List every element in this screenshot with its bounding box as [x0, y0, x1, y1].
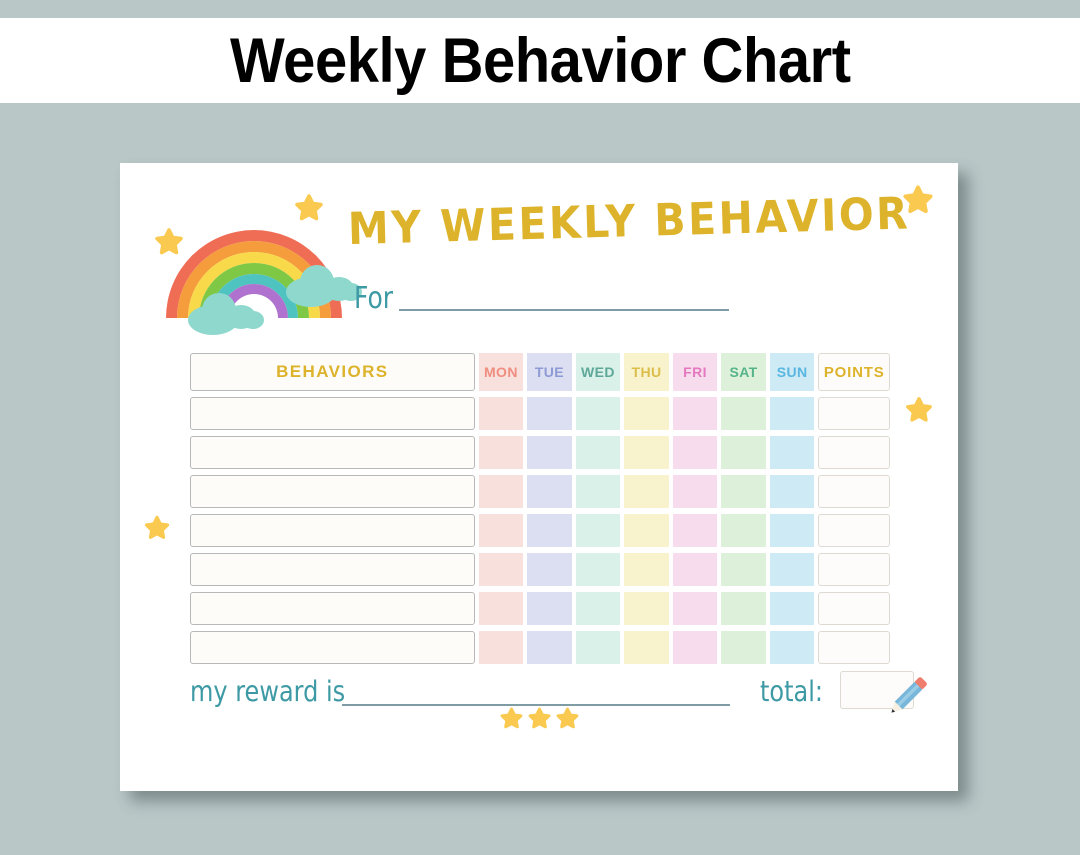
- cell-sun-7[interactable]: [770, 631, 815, 664]
- for-field-row: For: [354, 286, 729, 315]
- cell-fri-2[interactable]: [673, 436, 718, 469]
- header-cell-wed: WED: [576, 353, 621, 391]
- cell-points-7[interactable]: [818, 631, 890, 664]
- cell-mon-2[interactable]: [479, 436, 524, 469]
- table-row: [190, 436, 890, 469]
- cell-sat-7[interactable]: [721, 631, 766, 664]
- cell-sun-1[interactable]: [770, 397, 815, 430]
- cell-tue-3[interactable]: [527, 475, 572, 508]
- cell-fri-7[interactable]: [673, 631, 718, 664]
- cell-points-4[interactable]: [818, 514, 890, 547]
- cell-sun-2[interactable]: [770, 436, 815, 469]
- header-cell-sat: SAT: [721, 353, 766, 391]
- cell-points-6[interactable]: [818, 592, 890, 625]
- cell-mon-7[interactable]: [479, 631, 524, 664]
- total-label: total:: [760, 675, 823, 708]
- header-cell-behaviors: BEHAVIORS: [190, 353, 475, 391]
- points-header-label: POINTS: [824, 364, 885, 381]
- grid-header-row: BEHAVIORS MON TUE WED THU FRI SAT SUN: [190, 353, 890, 391]
- table-row: [190, 631, 890, 664]
- cell-sat-2[interactable]: [721, 436, 766, 469]
- table-row: [190, 514, 890, 547]
- behavior-input-5[interactable]: [190, 553, 475, 586]
- cell-thu-2[interactable]: [624, 436, 669, 469]
- star-icon: [142, 513, 172, 543]
- cell-points-3[interactable]: [818, 475, 890, 508]
- cell-fri-5[interactable]: [673, 553, 718, 586]
- star-icon: [292, 191, 326, 225]
- cell-thu-1[interactable]: [624, 397, 669, 430]
- cell-fri-3[interactable]: [673, 475, 718, 508]
- behavior-chart-card: MY WEEKLY BEHAVIOR For BEHAVIORS MON TUE…: [120, 163, 958, 791]
- cell-tue-5[interactable]: [527, 553, 572, 586]
- cell-sat-1[interactable]: [721, 397, 766, 430]
- cell-mon-1[interactable]: [479, 397, 524, 430]
- header-cell-thu: THU: [624, 353, 669, 391]
- cell-thu-6[interactable]: [624, 592, 669, 625]
- star-icon: [152, 225, 186, 259]
- table-row: [190, 553, 890, 586]
- reward-label: my reward is: [190, 675, 345, 708]
- table-row: [190, 592, 890, 625]
- cell-thu-7[interactable]: [624, 631, 669, 664]
- cell-sat-5[interactable]: [721, 553, 766, 586]
- cell-sat-4[interactable]: [721, 514, 766, 547]
- cell-points-2[interactable]: [818, 436, 890, 469]
- table-row: [190, 397, 890, 430]
- cell-tue-2[interactable]: [527, 436, 572, 469]
- cell-mon-5[interactable]: [479, 553, 524, 586]
- cell-wed-4[interactable]: [576, 514, 621, 547]
- for-label: For: [354, 280, 393, 315]
- header-cell-mon: MON: [479, 353, 524, 391]
- pencil-icon: [878, 668, 934, 724]
- cell-points-1[interactable]: [818, 397, 890, 430]
- cell-fri-6[interactable]: [673, 592, 718, 625]
- behavior-input-6[interactable]: [190, 592, 475, 625]
- cell-mon-6[interactable]: [479, 592, 524, 625]
- behavior-input-7[interactable]: [190, 631, 475, 664]
- cell-sat-3[interactable]: [721, 475, 766, 508]
- cell-wed-7[interactable]: [576, 631, 621, 664]
- header-cell-points: POINTS: [818, 353, 890, 391]
- star-icon: [554, 705, 581, 732]
- star-icon: [526, 705, 553, 732]
- cell-wed-1[interactable]: [576, 397, 621, 430]
- cell-thu-3[interactable]: [624, 475, 669, 508]
- chart-heading: MY WEEKLY BEHAVIOR: [347, 187, 938, 255]
- cell-sun-4[interactable]: [770, 514, 815, 547]
- table-row: [190, 475, 890, 508]
- cell-wed-3[interactable]: [576, 475, 621, 508]
- cell-fri-1[interactable]: [673, 397, 718, 430]
- behavior-input-2[interactable]: [190, 436, 475, 469]
- header-cell-tue: TUE: [527, 353, 572, 391]
- cell-sat-6[interactable]: [721, 592, 766, 625]
- cell-mon-4[interactable]: [479, 514, 524, 547]
- behavior-input-4[interactable]: [190, 514, 475, 547]
- behavior-input-3[interactable]: [190, 475, 475, 508]
- star-icon: [498, 705, 525, 732]
- cell-tue-7[interactable]: [527, 631, 572, 664]
- cell-wed-5[interactable]: [576, 553, 621, 586]
- page-title: Weekly Behavior Chart: [230, 25, 851, 97]
- title-banner: Weekly Behavior Chart: [0, 18, 1080, 103]
- behavior-grid: BEHAVIORS MON TUE WED THU FRI SAT SUN: [190, 353, 890, 670]
- cell-tue-6[interactable]: [527, 592, 572, 625]
- cell-points-5[interactable]: [818, 553, 890, 586]
- cell-sun-6[interactable]: [770, 592, 815, 625]
- cell-wed-6[interactable]: [576, 592, 621, 625]
- for-input-line[interactable]: [399, 309, 729, 311]
- cell-mon-3[interactable]: [479, 475, 524, 508]
- cell-tue-4[interactable]: [527, 514, 572, 547]
- cell-sun-5[interactable]: [770, 553, 815, 586]
- star-icon: [903, 394, 935, 426]
- header-cell-fri: FRI: [673, 353, 718, 391]
- cell-thu-4[interactable]: [624, 514, 669, 547]
- cell-thu-5[interactable]: [624, 553, 669, 586]
- behavior-input-1[interactable]: [190, 397, 475, 430]
- cell-fri-4[interactable]: [673, 514, 718, 547]
- cell-tue-1[interactable]: [527, 397, 572, 430]
- cell-sun-3[interactable]: [770, 475, 815, 508]
- behaviors-header-label: BEHAVIORS: [276, 362, 388, 382]
- cell-wed-2[interactable]: [576, 436, 621, 469]
- header-cell-sun: SUN: [770, 353, 815, 391]
